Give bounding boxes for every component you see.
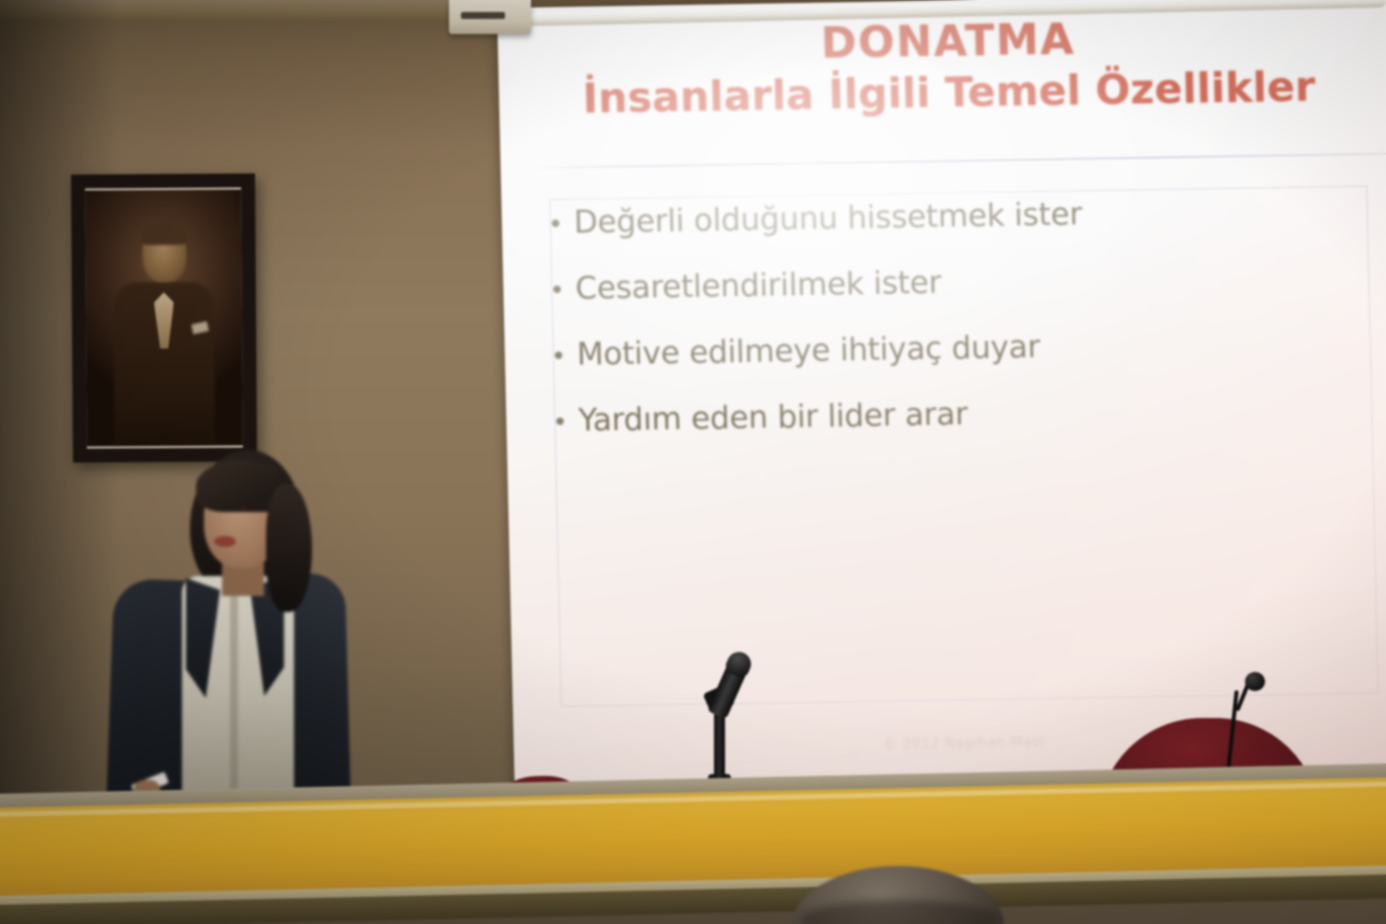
bullet-text: Motive edilmeye ihtiyaç duyar xyxy=(576,324,1341,373)
bullet-dot-icon: • xyxy=(552,410,579,436)
conference-room-photo: DONATMA İnsanlarla İlgili Temel Özellikl… xyxy=(0,0,1386,924)
gooseneck-microphone-capsule xyxy=(1245,672,1265,691)
list-item: • Cesaretlendirilmek ister xyxy=(549,258,1340,307)
portrait-hair xyxy=(140,221,188,245)
presenter-eye-right xyxy=(238,506,248,511)
presenter-mouth xyxy=(214,536,236,547)
slide-title: DONATMA İnsanlarla İlgili Temel Özellikl… xyxy=(497,13,1386,122)
bullet-text: Yardım eden bir lider arar xyxy=(578,390,1343,439)
presenter-hair-side xyxy=(266,484,312,612)
bullet-dot-icon: • xyxy=(549,278,576,304)
presenter-eye-left xyxy=(212,506,222,511)
screen-roller-housing xyxy=(449,0,531,34)
woman-presenter xyxy=(104,450,354,815)
bullet-text: Cesaretlendirilmek ister xyxy=(575,258,1340,307)
list-item: • Motive edilmeye ihtiyaç duyar xyxy=(550,324,1341,373)
list-item: • Yardım eden bir lider arar xyxy=(552,390,1343,439)
presenter-blouse-placket xyxy=(230,590,238,800)
bullet-dot-icon: • xyxy=(548,212,575,238)
portrait-image xyxy=(85,189,243,446)
title-divider-rule xyxy=(523,153,1386,169)
bullet-dot-icon: • xyxy=(551,344,578,370)
slide-title-line-2: İnsanlarla İlgili Temel Özellikler xyxy=(499,65,1386,122)
framed-portrait xyxy=(71,173,257,462)
slide-bullet-list: • Değerli olduğunu hissetmek ister • Ces… xyxy=(547,192,1343,469)
housing-slot xyxy=(461,12,505,19)
ceiling-edge xyxy=(0,0,470,22)
